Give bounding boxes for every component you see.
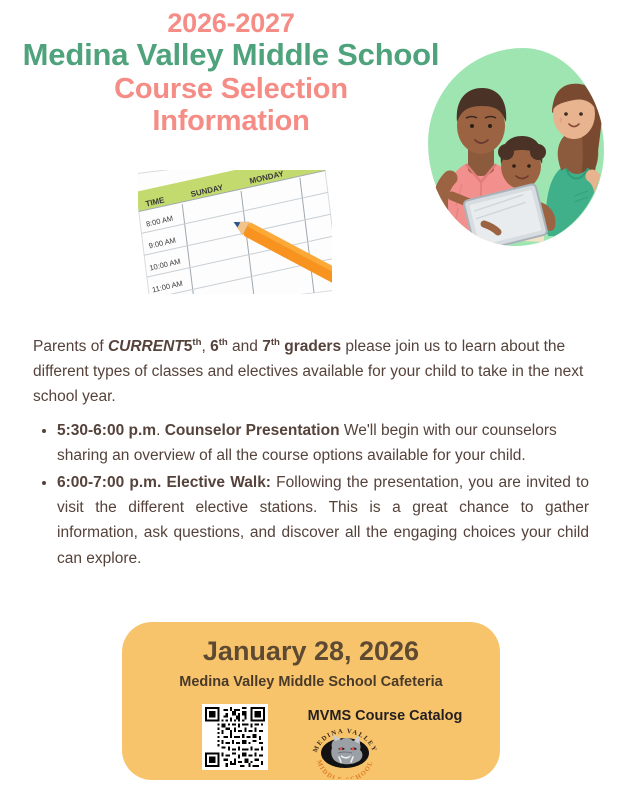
page-title: 2026-2027 Medina Valley Middle School Co… — [0, 8, 462, 138]
intro-paragraph: Parents of CURRENT5th, 6th and 7th grade… — [33, 334, 589, 409]
intro-grade-7: 7 — [262, 338, 271, 355]
intro-current-emphasis: CURRENT — [108, 338, 184, 355]
calendar-sheet-icon: TIME SUNDAY MONDAY 8:00 AM 9:00 AM 10:00… — [138, 170, 332, 294]
school-logo: MEDINA VALLEY MIDDLE SCHOOL — [308, 727, 382, 779]
title-information: Information — [0, 105, 462, 137]
event-details-card: January 28, 2026 Medina Valley Middle Sc… — [122, 622, 500, 780]
event-location: Medina Valley Middle School Cafeteria — [122, 667, 500, 690]
intro-grade-6: 6 — [210, 338, 219, 355]
intro-and: and — [228, 338, 262, 355]
flyer-page: 2026-2027 Medina Valley Middle School Co… — [0, 0, 618, 800]
panther-mascot-icon: MEDINA VALLEY MIDDLE SCHOOL — [308, 727, 382, 779]
list-item: 5:30-6:00 p.m. Counselor Presentation We… — [57, 418, 589, 468]
title-course: Course Selection — [0, 73, 462, 105]
intro-grade-7-suffix: th — [271, 336, 280, 347]
event-schedule-list: 5:30-6:00 p.m. Counselor Presentation We… — [33, 418, 589, 573]
qr-code[interactable] — [202, 704, 268, 770]
intro-grade-6-suffix: th — [219, 336, 228, 347]
bullet-1-time: 5:30-6:00 p.m — [57, 422, 156, 439]
title-year: 2026-2027 — [0, 8, 462, 38]
family-illustration — [428, 48, 604, 246]
title-school-name: Medina Valley Middle School — [0, 38, 462, 73]
qr-code-icon[interactable] — [205, 707, 265, 767]
intro-prefix: Parents of — [33, 338, 108, 355]
list-item: 6:00-7:00 p.m. Elective Walk: Following … — [57, 470, 589, 570]
bullet-2-title: Elective Walk: — [166, 474, 271, 491]
weekly-schedule-photo: TIME SUNDAY MONDAY 8:00 AM 9:00 AM 10:00… — [138, 170, 332, 294]
event-date: January 28, 2026 — [122, 622, 500, 667]
bullet-1-title: Counselor Presentation — [165, 422, 340, 439]
card-bottom-row: MVMS Course Catalog — [122, 700, 500, 780]
intro-comma: , — [201, 338, 210, 355]
family-figures-icon — [428, 48, 604, 246]
bullet-1-separator: . — [156, 422, 165, 439]
bullet-2-time: 6:00-7:00 p.m. — [57, 474, 161, 491]
course-catalog-label: MVMS Course Catalog — [280, 708, 490, 724]
intro-graders: graders — [280, 338, 341, 355]
